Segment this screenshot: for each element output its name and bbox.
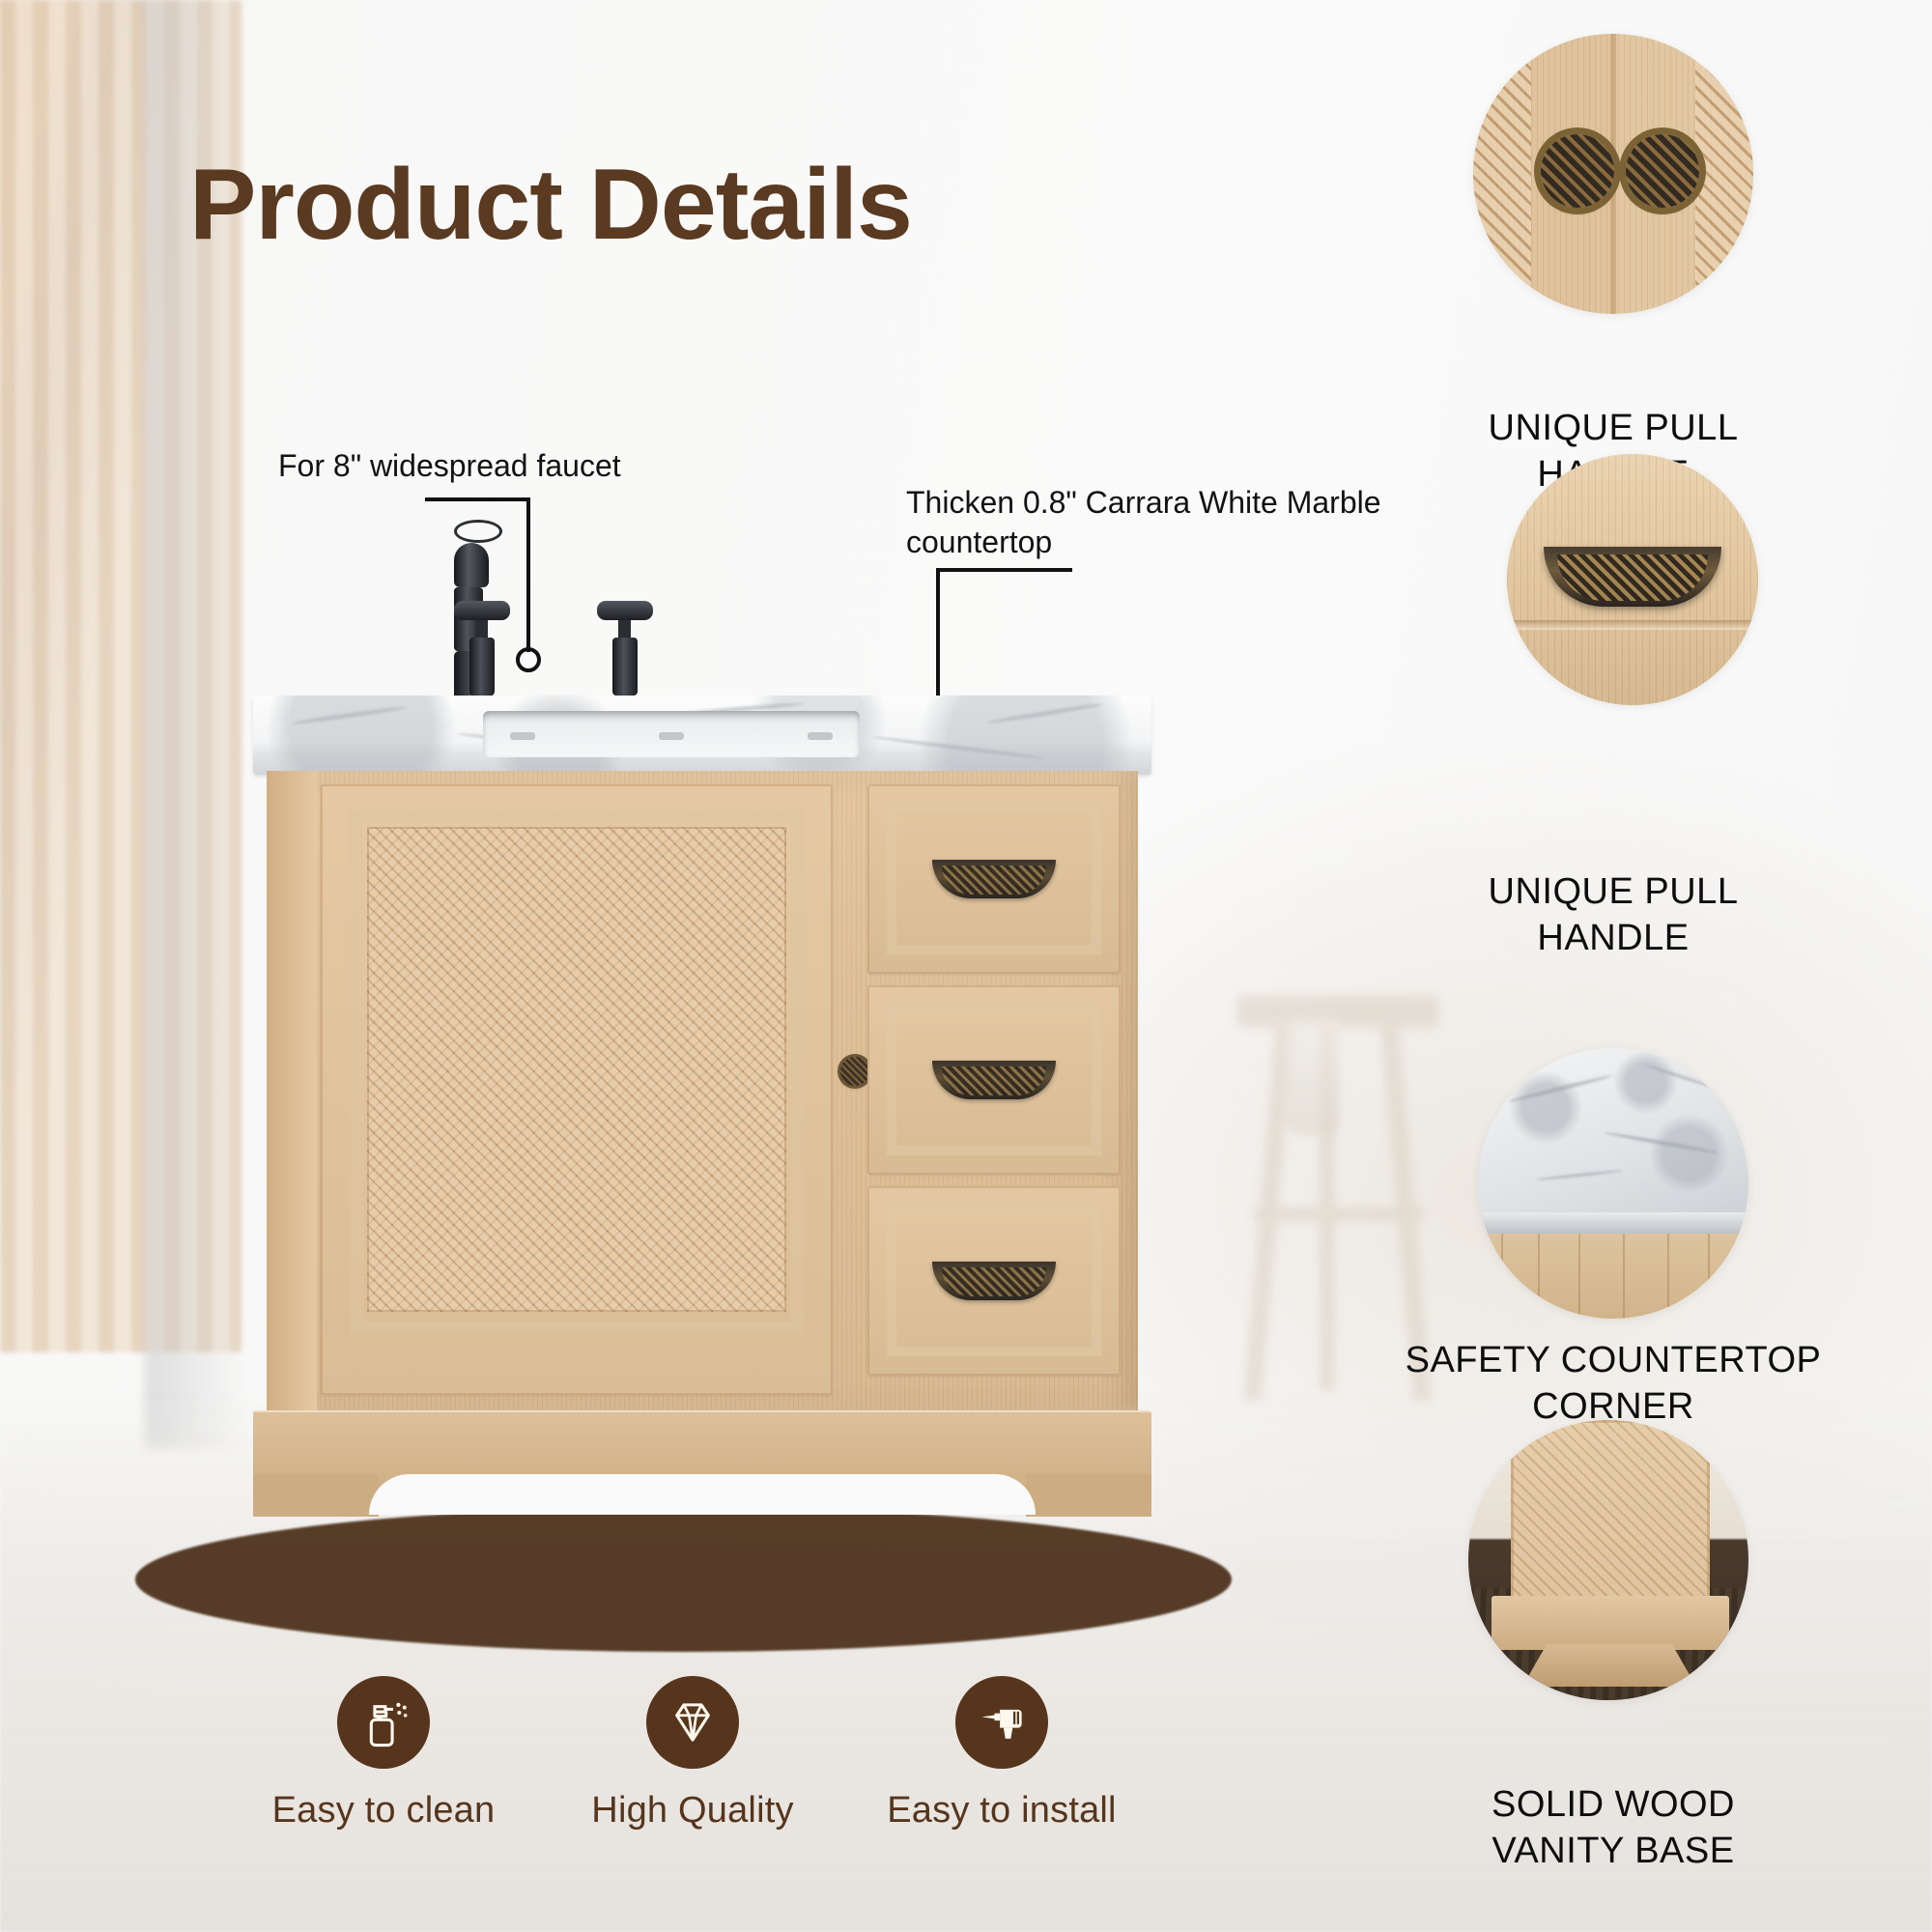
detail-countertop-corner-label-line-1: SAFETY COUNTERTOP: [1381, 1338, 1845, 1384]
drawer-middle[interactable]: [867, 985, 1121, 1175]
feature-easy-to-install: Easy to install: [857, 1676, 1147, 1832]
detail-base-foot: [1522, 1644, 1696, 1687]
callout-countertop-line-1: Thicken 0.8" Carrara White Marble: [906, 483, 1486, 523]
drawer-top-cup-pull-icon[interactable]: [932, 860, 1056, 898]
vanity-toe-kick-arch: [369, 1474, 1036, 1515]
faucet-spout-ring: [454, 520, 502, 543]
undermount-sink-basin: [483, 711, 860, 757]
detail-vanity-base-label-line-2: VANITY BASE: [1420, 1829, 1806, 1875]
marble-countertop: [253, 696, 1151, 775]
vanity-foot-left: [253, 1474, 379, 1517]
drawer-bottom-cup-pull-icon[interactable]: [932, 1262, 1056, 1300]
detail-cup-pull-label-line-1: UNIQUE PULL: [1430, 869, 1797, 916]
spray-bottle-icon: [337, 1676, 430, 1769]
feature-high-quality: High Quality: [548, 1676, 838, 1832]
infographic-canvas: Product Details For 8" widespread faucet…: [0, 0, 1932, 1932]
drawer-bottom[interactable]: [867, 1186, 1121, 1376]
faucet-right-handle-top: [597, 601, 653, 620]
detail-cup-pull-photo: [1507, 454, 1758, 705]
detail-cup-pull-label-line-2: HANDLE: [1430, 916, 1797, 962]
callout-faucet-label: For 8" widespread faucet: [278, 446, 621, 486]
cabinet-left-stile: [267, 771, 317, 1410]
detail-base-cane-panel: [1511, 1420, 1710, 1600]
background-vase: [1285, 1019, 1341, 1135]
product-vanity-image: [253, 696, 1161, 1546]
faucet-left-handle-top: [454, 601, 510, 620]
marble-top-surface: [1478, 1048, 1748, 1218]
cabinet-door[interactable]: [321, 784, 833, 1395]
detail-vanity-base-photo: [1468, 1420, 1748, 1700]
detail-countertop-corner-label: SAFETY COUNTERTOP CORNER: [1381, 1338, 1845, 1431]
faucet-left-handle-stem: [469, 638, 495, 696]
drill-icon: [955, 1676, 1048, 1769]
woven-knob-right-icon: [1626, 134, 1699, 208]
faucet-spout-head: [454, 543, 489, 587]
feature-easy-to-clean-label: Easy to clean: [239, 1790, 528, 1832]
faucet-assembly: [454, 520, 667, 703]
drawer-middle-cup-pull-icon[interactable]: [932, 1061, 1056, 1099]
detail-cup-pull-label: UNIQUE PULL HANDLE: [1430, 869, 1797, 962]
cabinet-side-under-counter: [1478, 1234, 1748, 1319]
detail-knob-label-line-1: UNIQUE PULL: [1430, 406, 1797, 452]
woven-knob-left-icon: [1541, 134, 1614, 208]
callout-countertop-label: Thicken 0.8" Carrara White Marble counte…: [906, 483, 1486, 562]
feature-easy-to-install-label: Easy to install: [857, 1790, 1147, 1832]
diamond-icon: [646, 1676, 739, 1769]
feature-easy-to-clean: Easy to clean: [239, 1676, 528, 1832]
feature-high-quality-label: High Quality: [548, 1790, 838, 1832]
detail-vanity-base-label: SOLID WOOD VANITY BASE: [1420, 1782, 1806, 1875]
faucet-right-handle-stem: [612, 638, 638, 696]
vanity-foot-right: [1026, 1474, 1151, 1517]
page-title: Product Details: [189, 155, 912, 255]
door-woven-knob-icon[interactable]: [840, 1057, 869, 1086]
callout-countertop-line-2: countertop: [906, 523, 1486, 562]
detail-knob-photo: [1473, 34, 1753, 314]
door-cane-weave-panel: [367, 827, 786, 1312]
vanity-cabinet-body: [267, 771, 1138, 1410]
detail-countertop-corner-photo: [1478, 1048, 1748, 1319]
detail-base-apron: [1492, 1596, 1729, 1650]
detail-vanity-base-label-line-1: SOLID WOOD: [1420, 1782, 1806, 1829]
marble-eased-edge: [1478, 1212, 1748, 1236]
drawer-top[interactable]: [867, 784, 1121, 974]
